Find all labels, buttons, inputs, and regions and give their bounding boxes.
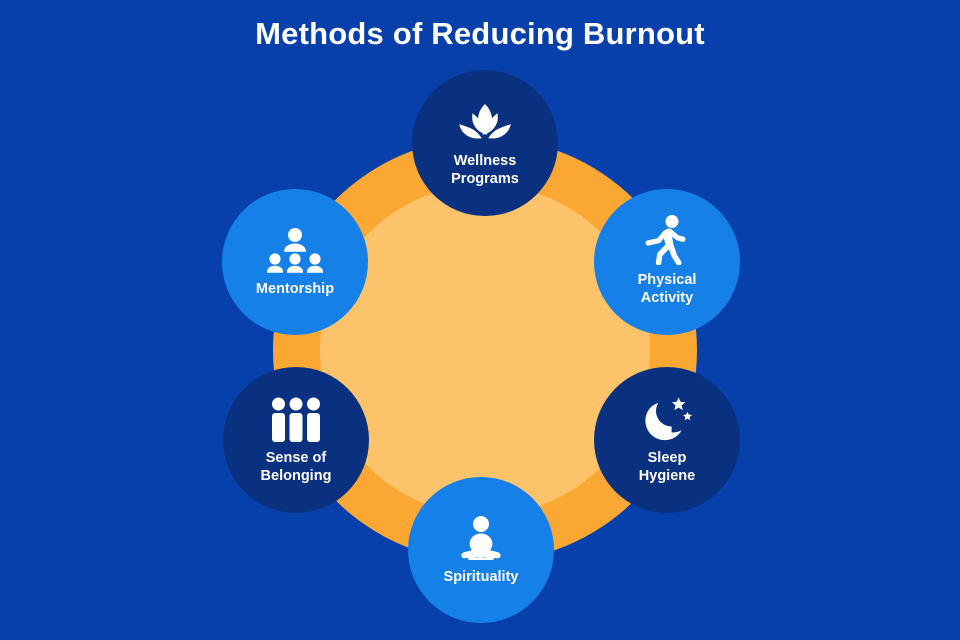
meditating-person-icon — [453, 512, 509, 562]
node-label: Spirituality — [444, 569, 519, 586]
node-sense-of-belonging[interactable]: Sense of Belonging — [223, 367, 369, 513]
node-spirituality[interactable]: Spirituality — [408, 477, 554, 623]
node-label: Sense of Belonging — [261, 450, 332, 484]
node-wellness-programs[interactable]: Wellness Programs — [412, 70, 558, 216]
node-label: Wellness Programs — [451, 153, 519, 187]
lotus-flower-icon — [457, 96, 513, 146]
org-chart-people-icon — [267, 224, 323, 274]
three-people-icon — [268, 393, 324, 443]
node-mentorship[interactable]: Mentorship — [222, 189, 368, 335]
page-title: Methods of Reducing Burnout — [0, 16, 960, 52]
node-physical-activity[interactable]: Physical Activity — [594, 189, 740, 335]
node-label: Mentorship — [256, 281, 334, 298]
node-label: Sleep Hygiene — [639, 450, 695, 484]
crescent-moon-stars-icon — [639, 393, 695, 443]
running-person-icon — [639, 215, 695, 265]
node-label: Physical Activity — [638, 272, 697, 306]
infographic-canvas: Methods of Reducing Burnout Wellness Pro… — [0, 0, 960, 640]
node-sleep-hygiene[interactable]: Sleep Hygiene — [594, 367, 740, 513]
